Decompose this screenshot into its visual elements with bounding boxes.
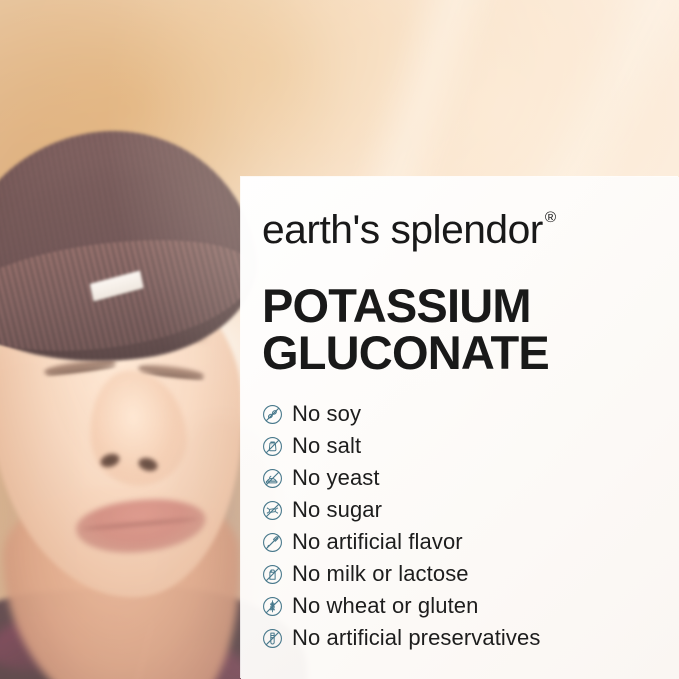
claim-label: No artificial preservatives — [292, 627, 540, 649]
no-soy-icon — [262, 404, 283, 425]
claim-label: No milk or lactose — [292, 563, 469, 585]
no-wheat-icon — [262, 596, 283, 617]
claim-item: No soy — [262, 398, 679, 430]
no-preservatives-icon — [262, 628, 283, 649]
claims-list: No soy — [262, 398, 679, 654]
no-salt-icon — [262, 436, 283, 457]
product-package-graphic: earth's splendor® POTASSIUM GLUCONATE — [0, 0, 679, 679]
claim-label: No artificial flavor — [292, 531, 463, 553]
claim-label: No sugar — [292, 499, 382, 521]
product-title: POTASSIUM GLUCONATE — [262, 283, 679, 376]
claim-label: No yeast — [292, 467, 380, 489]
claim-label: No soy — [292, 403, 361, 425]
no-milk-icon — [262, 564, 283, 585]
claim-item: No milk or lactose — [262, 558, 679, 590]
no-artificial-flavor-icon — [262, 532, 283, 553]
claim-label: No salt — [292, 435, 361, 457]
claim-item: No yeast — [262, 462, 679, 494]
brand-logo: earth's splendor® — [262, 210, 679, 250]
claim-item: No wheat or gluten — [262, 590, 679, 622]
no-yeast-icon — [262, 468, 283, 489]
info-panel: earth's splendor® POTASSIUM GLUCONATE — [241, 177, 679, 679]
registered-trademark-icon: ® — [545, 209, 556, 226]
claim-item: No artificial flavor — [262, 526, 679, 558]
no-sugar-icon — [262, 500, 283, 521]
claim-label: No wheat or gluten — [292, 595, 478, 617]
product-title-line-2: GLUCONATE — [262, 330, 679, 377]
claim-item: No salt — [262, 430, 679, 462]
claim-item: No artificial preservatives — [262, 622, 679, 654]
claim-item: No sugar — [262, 494, 679, 526]
brand-name: earth's splendor — [262, 208, 543, 252]
product-title-line-1: POTASSIUM — [262, 283, 679, 330]
